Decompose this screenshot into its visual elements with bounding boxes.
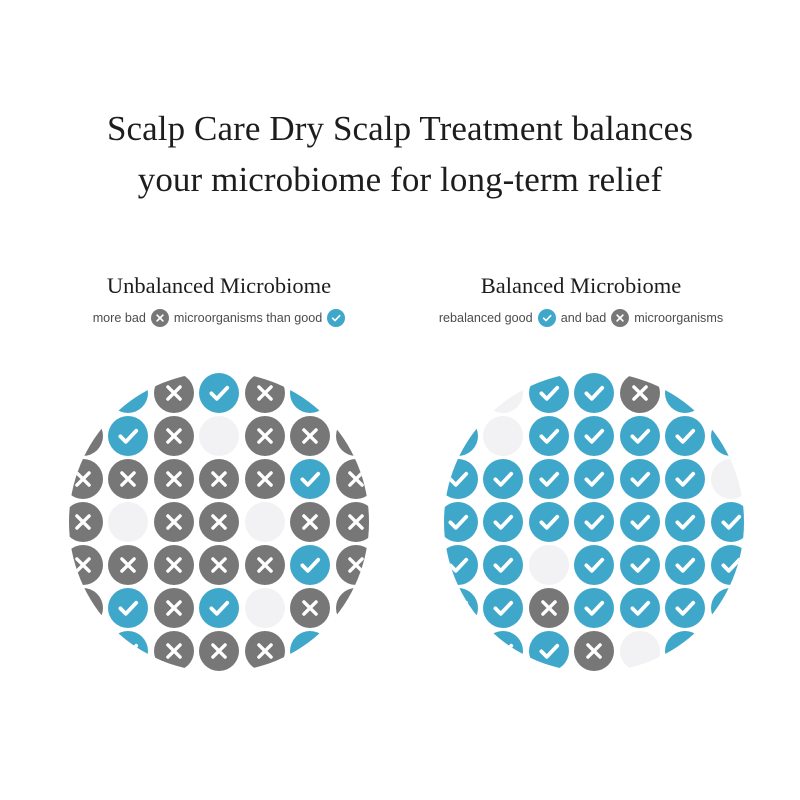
page-title-line-1: Scalp Care Dry Scalp Treatment balances <box>0 103 800 154</box>
badge-good-check <box>529 459 569 499</box>
badge-good-check <box>574 545 614 585</box>
badge-bad-cross <box>620 373 660 413</box>
badge-good-check <box>483 459 523 499</box>
badge-bad-cross <box>199 502 239 542</box>
badge-good-check <box>483 588 523 628</box>
badge-empty <box>245 502 285 542</box>
grid-cells-balanced <box>444 372 744 672</box>
badge-good-check <box>665 373 705 413</box>
badge-bad-cross <box>336 588 370 628</box>
badge-bad-cross <box>336 545 370 585</box>
badge-good-check <box>620 545 660 585</box>
badge-good-check <box>574 459 614 499</box>
badge-good-check <box>665 502 705 542</box>
badge-bad-cross <box>245 459 285 499</box>
badge-empty <box>620 631 660 671</box>
badge-empty <box>108 502 148 542</box>
badge-good-check <box>574 502 614 542</box>
badge-good-check <box>290 631 330 671</box>
badge-good-check <box>574 588 614 628</box>
badge-good-check <box>199 373 239 413</box>
badge-empty <box>483 373 523 413</box>
legend-text-microorganisms: microorganisms <box>634 309 723 327</box>
badge-good-check <box>108 631 148 671</box>
badge-good-check <box>711 416 745 456</box>
badge-good-check <box>444 459 478 499</box>
badge-bad-cross <box>69 588 103 628</box>
grid-cells-unbalanced <box>69 372 369 672</box>
badge-good-check <box>483 545 523 585</box>
badge-bad-cross <box>574 631 614 671</box>
legend-text-more-bad: more bad <box>93 309 146 327</box>
badge-good-check <box>665 459 705 499</box>
badge-bad-cross <box>69 416 103 456</box>
legend-text-microorganisms-than-good: microorganisms than good <box>174 309 322 327</box>
badge-bad-cross <box>245 416 285 456</box>
badge-bad-cross <box>529 588 569 628</box>
badge-empty <box>444 631 478 671</box>
badge-good-check <box>290 373 330 413</box>
badge-good-check <box>483 502 523 542</box>
legend-unbalanced: more bad microorganisms than good <box>36 309 402 327</box>
badge-bad-cross <box>69 545 103 585</box>
page-title-line-2: your microbiome for long-term relief <box>0 154 800 205</box>
badge-empty <box>711 459 745 499</box>
badge-empty <box>483 416 523 456</box>
badge-good-check <box>665 416 705 456</box>
badge-bad-cross <box>290 588 330 628</box>
microbiome-grid-balanced <box>444 372 744 672</box>
badge-good-check <box>529 631 569 671</box>
badge-empty <box>336 373 370 413</box>
badge-empty <box>69 631 103 671</box>
check-icon <box>327 309 345 327</box>
badge-bad-cross <box>154 588 194 628</box>
badge-good-check <box>444 416 478 456</box>
badge-bad-cross <box>154 416 194 456</box>
badge-good-check <box>711 588 745 628</box>
badge-bad-cross <box>154 459 194 499</box>
badge-good-check <box>444 588 478 628</box>
microbiome-grid-unbalanced <box>69 372 369 672</box>
badge-bad-cross <box>69 502 103 542</box>
badge-empty <box>69 373 103 413</box>
check-icon <box>538 309 556 327</box>
badge-good-check <box>529 416 569 456</box>
badge-good-check <box>711 545 745 585</box>
badge-good-check <box>620 588 660 628</box>
badge-empty <box>336 631 370 671</box>
badge-good-check <box>290 459 330 499</box>
badge-good-check <box>620 459 660 499</box>
badge-bad-cross <box>290 502 330 542</box>
badge-good-check <box>290 545 330 585</box>
badge-good-check <box>665 588 705 628</box>
badge-empty <box>529 545 569 585</box>
badge-bad-cross <box>245 631 285 671</box>
badge-good-check <box>711 502 745 542</box>
panel-balanced-header: Balanced Microbiome rebalanced good and … <box>398 272 764 327</box>
badge-bad-cross <box>199 545 239 585</box>
badge-good-check <box>529 373 569 413</box>
badge-good-check <box>483 631 523 671</box>
panel-title-unbalanced: Unbalanced Microbiome <box>36 272 402 300</box>
cross-icon <box>151 309 169 327</box>
badge-good-check <box>665 545 705 585</box>
badge-good-check <box>108 588 148 628</box>
badge-good-check <box>529 502 569 542</box>
badge-empty <box>444 373 478 413</box>
badge-good-check <box>108 373 148 413</box>
badge-good-check <box>444 545 478 585</box>
page-title: Scalp Care Dry Scalp Treatment balances … <box>0 103 800 205</box>
badge-good-check <box>620 502 660 542</box>
badge-bad-cross <box>336 502 370 542</box>
badge-bad-cross <box>336 416 370 456</box>
badge-good-check <box>108 416 148 456</box>
badge-empty <box>711 631 745 671</box>
badge-bad-cross <box>69 459 103 499</box>
badge-bad-cross <box>108 459 148 499</box>
badge-bad-cross <box>290 416 330 456</box>
panel-unbalanced-header: Unbalanced Microbiome more bad microorga… <box>36 272 402 327</box>
badge-bad-cross <box>154 631 194 671</box>
badge-good-check <box>444 502 478 542</box>
badge-good-check <box>574 373 614 413</box>
badge-bad-cross <box>199 631 239 671</box>
badge-good-check <box>665 631 705 671</box>
badge-empty <box>245 588 285 628</box>
badge-bad-cross <box>245 373 285 413</box>
infographic-canvas: Scalp Care Dry Scalp Treatment balances … <box>0 0 800 800</box>
badge-bad-cross <box>336 459 370 499</box>
panel-title-balanced: Balanced Microbiome <box>398 272 764 300</box>
badge-good-check <box>620 416 660 456</box>
badge-bad-cross <box>199 459 239 499</box>
badge-good-check <box>574 416 614 456</box>
badge-bad-cross <box>154 373 194 413</box>
legend-text-and-bad: and bad <box>561 309 607 327</box>
badge-bad-cross <box>154 502 194 542</box>
badge-bad-cross <box>154 545 194 585</box>
badge-bad-cross <box>108 545 148 585</box>
legend-balanced: rebalanced good and bad microorganisms <box>398 309 764 327</box>
legend-text-rebalanced-good: rebalanced good <box>439 309 533 327</box>
badge-bad-cross <box>245 545 285 585</box>
badge-empty <box>199 416 239 456</box>
cross-icon <box>611 309 629 327</box>
badge-good-check <box>199 588 239 628</box>
badge-empty <box>711 373 745 413</box>
